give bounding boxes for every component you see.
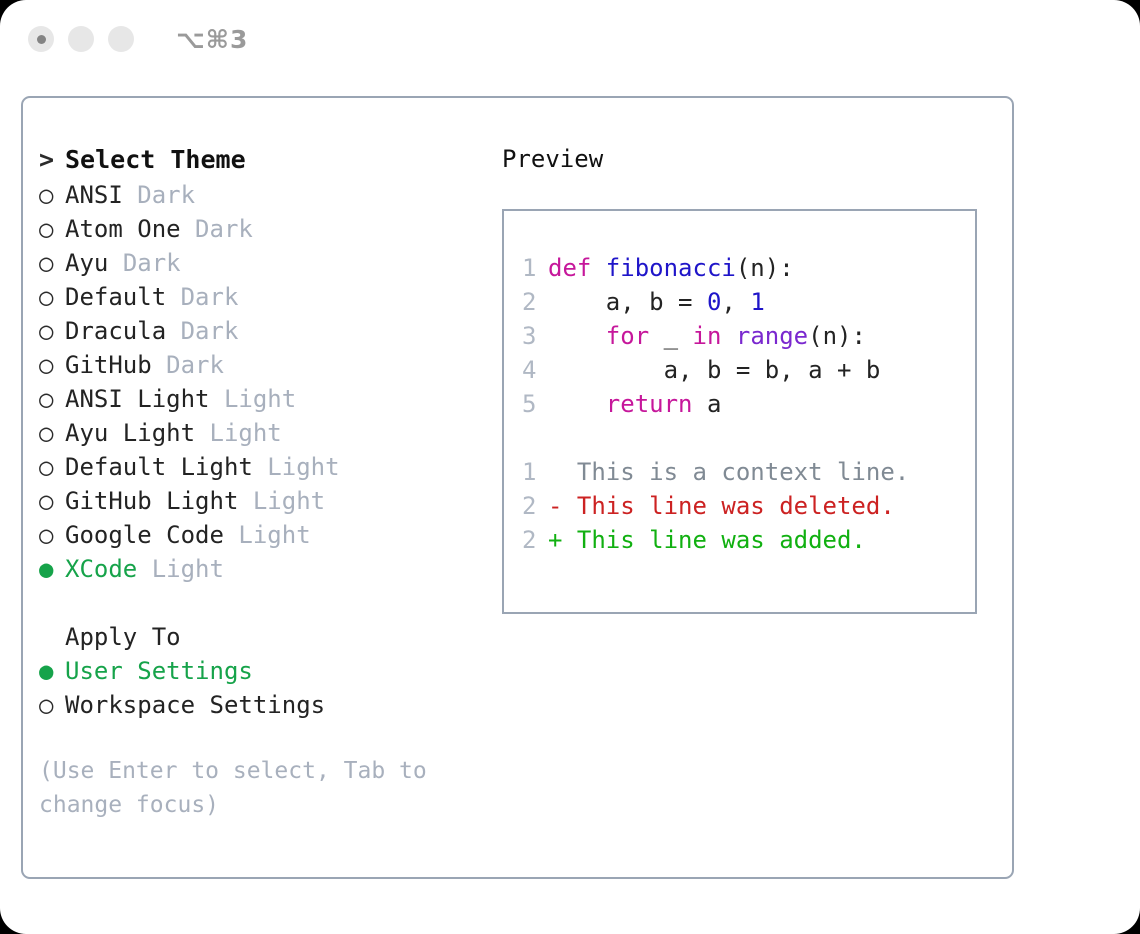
theme-name: Google Code (65, 521, 224, 549)
recording-dot-icon[interactable] (28, 26, 54, 52)
code-token: _ (649, 322, 692, 350)
line-number: 4 (522, 353, 548, 387)
main-panel: >Select Theme ○ANSI Dark○Atom One Dark○A… (21, 96, 1014, 879)
line-number: 2 (522, 285, 548, 319)
theme-variant-label: Light (210, 419, 282, 447)
radio-selected-icon: ● (39, 552, 65, 586)
code-token: for (606, 322, 649, 350)
prompt-caret-icon: > (39, 142, 65, 178)
line-number: 2 (522, 489, 548, 523)
theme-name: Default Light (65, 453, 253, 481)
theme-list-item[interactable]: ○Dracula Dark (39, 314, 479, 348)
keyboard-shortcut-label: ⌥⌘3 (176, 25, 248, 54)
theme-list: ○ANSI Dark○Atom One Dark○Ayu Dark○Defaul… (39, 178, 479, 586)
radio-unselected-icon: ○ (39, 688, 65, 722)
theme-gap (108, 249, 122, 277)
apply-to-list: ●User Settings○Workspace Settings (39, 654, 479, 722)
theme-variant-label: Dark (181, 283, 239, 311)
theme-gap (152, 351, 166, 379)
code-token: return (606, 390, 693, 418)
plain-dot-icon-1[interactable] (68, 26, 94, 52)
theme-variant-label: Dark (137, 181, 195, 209)
code-token: , (721, 288, 750, 316)
code-line (522, 421, 975, 455)
line-number: 2 (522, 523, 548, 557)
theme-gap (210, 385, 224, 413)
radio-unselected-icon: ○ (39, 416, 65, 450)
theme-gap (238, 487, 252, 515)
line-number: 5 (522, 387, 548, 421)
theme-variant-label: Dark (181, 317, 239, 345)
theme-list-item[interactable]: ●XCode Light (39, 552, 479, 586)
theme-name: Dracula (65, 317, 166, 345)
code-preview: 1def fibonacci(n):2 a, b = 0, 13 for _ i… (522, 251, 975, 557)
code-token (721, 322, 735, 350)
title-bar: ⌥⌘3 (0, 0, 1140, 78)
code-token: 0 (707, 288, 721, 316)
select-theme-header: >Select Theme (39, 142, 479, 178)
theme-list-item[interactable]: ○GitHub Light Light (39, 484, 479, 518)
code-token: fibonacci (606, 254, 736, 282)
app-window: ⌥⌘3 >Select Theme ○ANSI Dark○Atom One Da… (0, 0, 1140, 934)
apply-to-option-label: User Settings (65, 657, 253, 685)
line-number: 3 (522, 319, 548, 353)
select-theme-label: Select Theme (65, 145, 246, 174)
theme-name: GitHub (65, 351, 152, 379)
theme-name: GitHub Light (65, 487, 238, 515)
theme-gap (166, 317, 180, 345)
theme-name: Ayu (65, 249, 108, 277)
theme-list-item[interactable]: ○Ayu Dark (39, 246, 479, 280)
code-line: 5 return a (522, 387, 975, 421)
radio-unselected-icon: ○ (39, 382, 65, 416)
theme-gap (224, 521, 238, 549)
code-token: a, b = b, a + b (548, 356, 880, 384)
theme-name: ANSI (65, 181, 123, 209)
code-token (548, 390, 606, 418)
code-line: 1def fibonacci(n): (522, 251, 975, 285)
theme-list-item[interactable]: ○Ayu Light Light (39, 416, 479, 450)
theme-name: XCode (65, 555, 137, 583)
code-line: 1 This is a context line. (522, 455, 975, 489)
theme-list-item[interactable]: ○ANSI Light Light (39, 382, 479, 416)
code-token: - This line was deleted. (548, 492, 895, 520)
radio-unselected-icon: ○ (39, 484, 65, 518)
code-token: in (693, 322, 722, 350)
code-line: 2 a, b = 0, 1 (522, 285, 975, 319)
theme-name: Default (65, 283, 166, 311)
plain-dot-icon-2[interactable] (108, 26, 134, 52)
panel-columns: >Select Theme ○ANSI Dark○Atom One Dark○A… (23, 98, 1012, 877)
radio-unselected-icon: ○ (39, 212, 65, 246)
radio-unselected-icon: ○ (39, 348, 65, 382)
code-token: a (693, 390, 722, 418)
theme-variant-label: Dark (123, 249, 181, 277)
list-spacer (39, 586, 479, 620)
theme-gap (181, 215, 195, 243)
theme-gap (123, 181, 137, 209)
theme-gap (253, 453, 267, 481)
theme-name: ANSI Light (65, 385, 210, 413)
code-line: 2+ This line was added. (522, 523, 975, 557)
radio-unselected-icon: ○ (39, 246, 65, 280)
code-line: 3 for _ in range(n): (522, 319, 975, 353)
code-token: a, b = (548, 288, 707, 316)
theme-variant-label: Dark (195, 215, 253, 243)
preview-column: Preview 1def fibonacci(n):2 a, b = 0, 13… (502, 142, 992, 614)
theme-gap (166, 283, 180, 311)
code-token: 1 (750, 288, 764, 316)
theme-list-item[interactable]: ○Default Light Light (39, 450, 479, 484)
apply-to-option[interactable]: ●User Settings (39, 654, 479, 688)
radio-unselected-icon: ○ (39, 314, 65, 348)
code-token: + This line was added. (548, 526, 866, 554)
apply-to-label: Apply To (39, 620, 479, 654)
radio-unselected-icon: ○ (39, 280, 65, 314)
theme-variant-label: Light (152, 555, 224, 583)
theme-gap (137, 555, 151, 583)
code-line: 2- This line was deleted. (522, 489, 975, 523)
theme-name: Atom One (65, 215, 181, 243)
radio-unselected-icon: ○ (39, 518, 65, 552)
theme-variant-label: Light (267, 453, 339, 481)
theme-gap (195, 419, 209, 447)
theme-list-item[interactable]: ○Default Dark (39, 280, 479, 314)
radio-unselected-icon: ○ (39, 178, 65, 212)
theme-variant-label: Light (238, 521, 310, 549)
code-token: (n): (808, 322, 866, 350)
radio-selected-icon: ● (39, 654, 65, 688)
code-token (548, 322, 606, 350)
theme-list-item[interactable]: ○Google Code Light (39, 518, 479, 552)
code-line: 4 a, b = b, a + b (522, 353, 975, 387)
theme-variant-label: Light (224, 385, 296, 413)
theme-variant-label: Light (253, 487, 325, 515)
code-token: This is a context line. (548, 458, 909, 486)
code-token: (n): (736, 254, 794, 282)
keyboard-hint-text: (Use Enter to select, Tab to change focu… (39, 754, 439, 822)
theme-list-item[interactable]: ○GitHub Dark (39, 348, 479, 382)
theme-list-item[interactable]: ○ANSI Dark (39, 178, 479, 212)
code-token: range (736, 322, 808, 350)
theme-selector-column: >Select Theme ○ANSI Dark○Atom One Dark○A… (39, 142, 479, 822)
apply-to-option-label: Workspace Settings (65, 691, 325, 719)
radio-unselected-icon: ○ (39, 450, 65, 484)
line-number: 1 (522, 455, 548, 489)
apply-to-option[interactable]: ○Workspace Settings (39, 688, 479, 722)
line-number: 1 (522, 251, 548, 285)
theme-list-item[interactable]: ○Atom One Dark (39, 212, 479, 246)
code-token: def (548, 254, 606, 282)
preview-box: 1def fibonacci(n):2 a, b = 0, 13 for _ i… (502, 209, 977, 614)
theme-variant-label: Dark (166, 351, 224, 379)
preview-title: Preview (502, 142, 992, 176)
theme-name: Ayu Light (65, 419, 195, 447)
recording-dot-inner (37, 35, 46, 44)
